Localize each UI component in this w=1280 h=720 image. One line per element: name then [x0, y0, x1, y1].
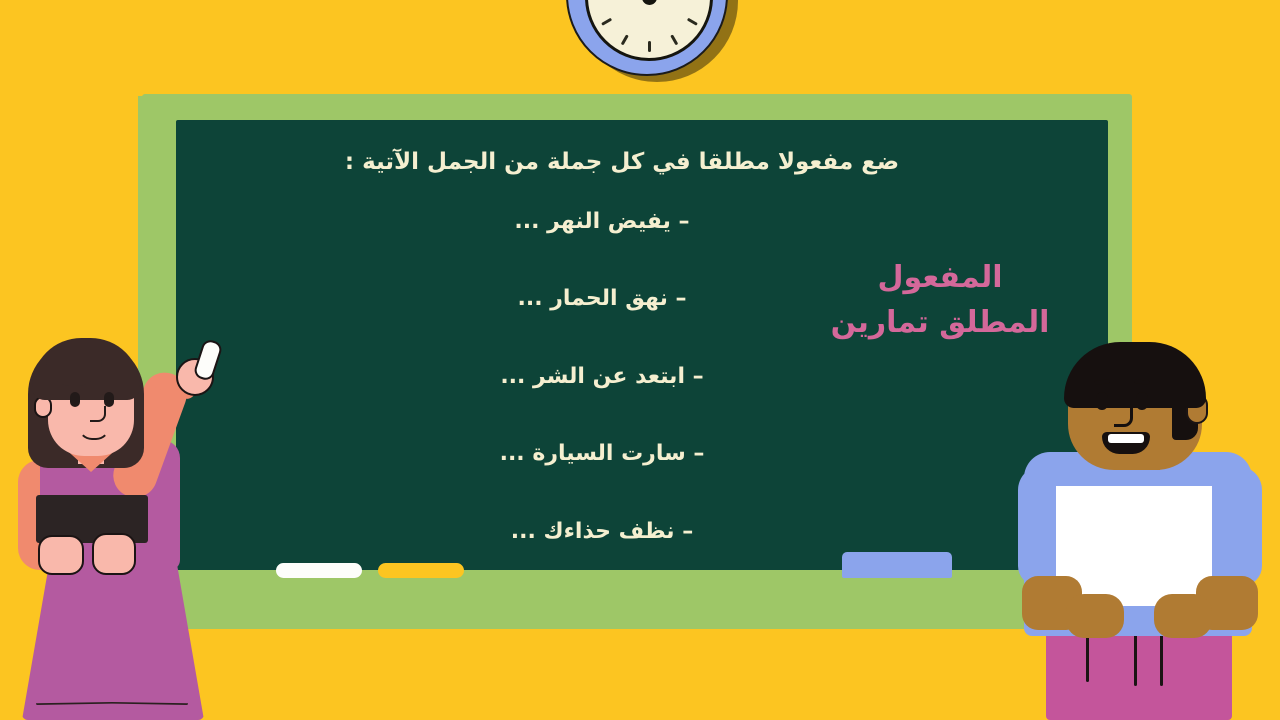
student-shorts [1046, 628, 1232, 720]
teacher-nose [90, 406, 106, 422]
slide-canvas: ضع مفعولا مطلقا في كل جملة من الجمل الآت… [0, 0, 1280, 720]
white-chalk [276, 563, 362, 578]
wall-clock [566, 0, 738, 86]
teacher-right-hand [92, 533, 136, 575]
teacher-skirt [22, 552, 204, 720]
student-shorts-fold [1086, 636, 1089, 682]
teacher-left-hand [38, 535, 84, 575]
blackboard-content: ضع مفعولا مطلقا في كل جملة من الجمل الآت… [176, 120, 1108, 570]
clock-tick [648, 41, 651, 52]
exercise-sentence-5: – نظف حذاءك ... [176, 518, 1028, 546]
student-right-hand [1154, 594, 1212, 638]
clock-tick [670, 34, 678, 45]
exercise-sentence-4: – سارت السيارة ... [176, 440, 1028, 468]
student-teeth [1108, 434, 1144, 443]
lesson-title-line-1: المفعول [800, 255, 1080, 300]
clock-tick [686, 18, 697, 26]
student-shorts-fold [1134, 634, 1137, 686]
clock-tick [620, 34, 628, 45]
teacher-character [0, 330, 270, 720]
exercise-instruction: ضع مفعولا مطلقا في كل جملة من الجمل الآت… [176, 148, 1108, 178]
teacher-left-eye [70, 392, 80, 407]
clock-tick [601, 18, 612, 26]
teacher-right-eye [104, 392, 114, 407]
clock-face [585, 0, 713, 61]
blue-eraser [842, 552, 952, 578]
teacher-chalk [192, 338, 223, 382]
student-nose [1114, 408, 1133, 427]
lesson-title: المفعول المطلق تمارين [800, 255, 1080, 345]
clock-center-hub [642, 0, 657, 5]
student-hair [1064, 342, 1206, 408]
exercise-sentence-3: – ابتعد عن الشر ... [176, 363, 1028, 391]
student-right-eye [1136, 392, 1148, 410]
student-shorts-fold [1160, 634, 1163, 686]
exercise-sentence-1: – يفيض النهر ... [176, 208, 1028, 236]
student-character [1008, 336, 1280, 720]
yellow-chalk [378, 563, 464, 578]
student-left-eye [1096, 392, 1108, 410]
student-left-hand [1066, 594, 1124, 638]
